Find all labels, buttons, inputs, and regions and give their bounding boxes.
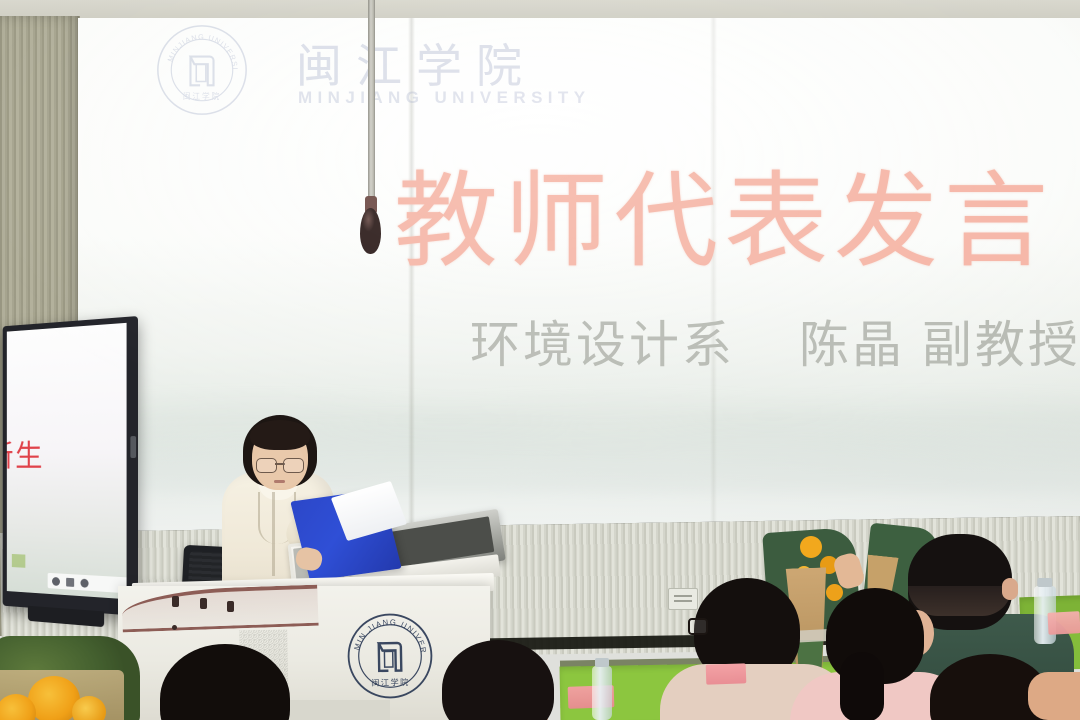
settings-icon[interactable] bbox=[52, 576, 60, 585]
bouquet-flower bbox=[826, 584, 843, 601]
name-card bbox=[706, 663, 747, 684]
audience-member-ear bbox=[1002, 578, 1018, 600]
svg-text:闽江学院: 闽江学院 bbox=[183, 91, 221, 101]
svg-text:闽江学院: 闽江学院 bbox=[371, 677, 410, 688]
audience-member-face bbox=[1028, 672, 1080, 720]
podium-university-seal-icon: MIN JIANG UNIVERSITY 闽江学院 bbox=[343, 609, 437, 703]
university-seal-icon: MINJIANG UNIVERSITY 闽江学院 bbox=[154, 22, 250, 118]
eyeglasses-icon bbox=[688, 618, 708, 635]
monitor-corner-graphic bbox=[12, 554, 25, 568]
university-name-cn: 闽江学院 bbox=[296, 30, 536, 96]
sunflower-bouquet bbox=[0, 636, 140, 720]
podium-control-knob[interactable] bbox=[227, 601, 234, 612]
microphone-icon bbox=[360, 208, 381, 254]
sunflower bbox=[72, 696, 106, 720]
speaker-mouth bbox=[274, 480, 285, 483]
monitor-toolbar[interactable] bbox=[48, 573, 127, 595]
lecture-hall-photo: MINJIANG UNIVERSITY 闽江学院 闽江学院 MINJIANG U… bbox=[0, 0, 1080, 720]
university-logo-block: MINJIANG UNIVERSITY 闽江学院 闽江学院 MINJIANG U… bbox=[86, 20, 486, 120]
monitor-side-button[interactable] bbox=[130, 436, 136, 458]
slide-subtitle: 环境设计系陈晶 副教授 bbox=[470, 320, 1080, 370]
microphone-pole bbox=[368, 0, 375, 201]
audience-member-ponytail bbox=[840, 652, 884, 720]
power-icon[interactable] bbox=[80, 578, 88, 587]
projection-screen: MINJIANG UNIVERSITY 闽江学院 闽江学院 MINJIANG U… bbox=[78, 18, 1080, 536]
monitor-screen: 新生 bbox=[7, 323, 127, 599]
bouquet-flower bbox=[800, 536, 822, 558]
monitor-visible-text: 新生 bbox=[7, 432, 44, 476]
volume-icon[interactable] bbox=[66, 577, 74, 586]
speaker-shirt-placket bbox=[272, 492, 275, 576]
name-card bbox=[1047, 611, 1080, 635]
podium-indicator-light bbox=[172, 625, 177, 630]
university-name-en: MINJIANG UNIVERSITY bbox=[298, 88, 590, 108]
speaker-hair-fringe bbox=[250, 420, 310, 450]
wall-outlet-icon bbox=[668, 588, 698, 610]
podium-control-knob[interactable] bbox=[172, 596, 179, 607]
eyeglasses-icon bbox=[256, 458, 304, 471]
side-display-monitor: 新生 bbox=[3, 316, 138, 616]
slide-subtitle-speaker: 陈晶 副教授 bbox=[799, 317, 1080, 373]
podium-control-knob[interactable] bbox=[200, 598, 207, 609]
slide-title: 教师代表发言 bbox=[394, 170, 1054, 274]
slide-subtitle-department: 环境设计系 bbox=[470, 317, 735, 373]
water-bottle bbox=[592, 666, 612, 720]
